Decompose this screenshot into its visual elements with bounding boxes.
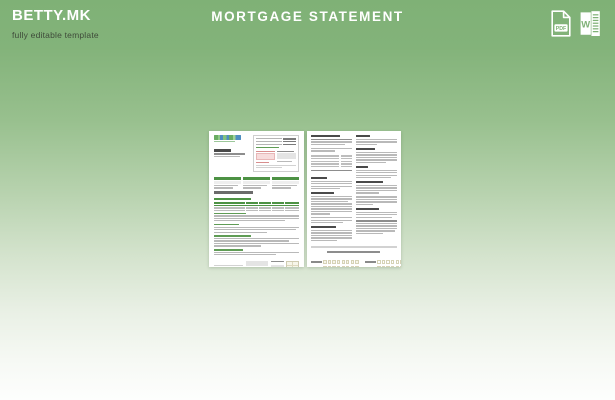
svg-text:W: W	[581, 18, 590, 29]
explanation-paragraphs	[214, 213, 300, 256]
page-title: MORTGAGE STATEMENT	[0, 9, 615, 24]
grid-row	[311, 266, 397, 267]
table-row	[214, 207, 300, 208]
three-column-summary	[214, 177, 300, 189]
amount-due-table	[271, 261, 299, 267]
summary-column	[214, 177, 241, 189]
summary-column	[243, 177, 270, 189]
page-header: BETTY.MK fully editable template MORTGAG…	[0, 0, 615, 56]
right-disclosure-column	[356, 135, 397, 242]
payment-breakdown-table	[214, 198, 300, 211]
svg-text:PDF: PDF	[556, 26, 567, 32]
mortgage-statement-page-2[interactable]	[307, 131, 402, 267]
borrower-address-block	[214, 149, 248, 157]
transaction-history-grid	[311, 260, 397, 267]
pdf-file-icon[interactable]: PDF	[550, 10, 572, 37]
table-row	[214, 210, 300, 211]
file-format-icons: PDF W	[550, 10, 601, 37]
grid-row	[311, 260, 397, 264]
word-file-icon[interactable]: W	[579, 10, 601, 37]
account-number-bar	[214, 191, 253, 194]
document-preview[interactable]	[209, 131, 401, 267]
brand-tagline: fully editable template	[12, 29, 99, 41]
account-summary-box	[253, 135, 299, 172]
mortgage-statement-page-1[interactable]	[209, 131, 304, 267]
summary-column	[272, 177, 299, 189]
left-disclosure-column	[311, 135, 352, 242]
table-header-row	[214, 202, 300, 206]
payment-coupon	[214, 261, 300, 267]
